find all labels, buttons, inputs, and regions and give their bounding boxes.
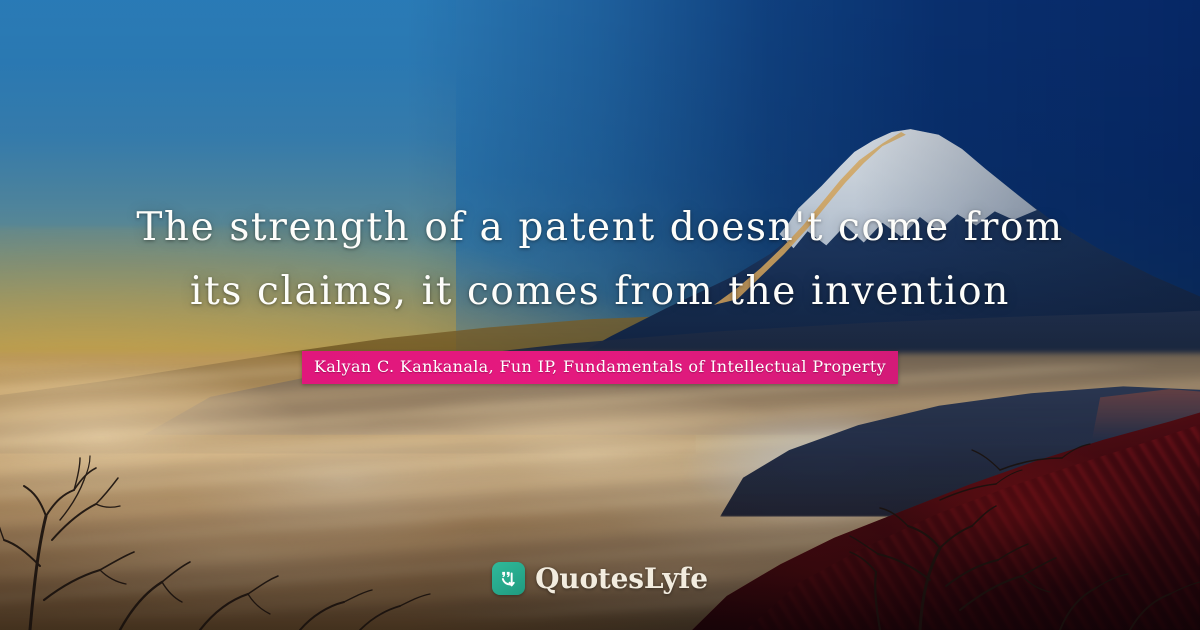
attribution-badge: Kalyan C. Kankanala, Fun IP, Fundamental…: [302, 351, 898, 384]
quote-text: The strength of a patent doesn't come fr…: [60, 196, 1140, 324]
quotes-smiley-icon: [492, 562, 525, 595]
attribution-container: Kalyan C. Kankanala, Fun IP, Fundamental…: [0, 351, 1200, 384]
logo-wordmark: QuotesLyfe: [535, 565, 708, 593]
card-content: The strength of a patent doesn't come fr…: [0, 0, 1200, 630]
quote-card: The strength of a patent doesn't come fr…: [0, 0, 1200, 630]
quoteslyfe-logo[interactable]: QuotesLyfe: [0, 562, 1200, 595]
